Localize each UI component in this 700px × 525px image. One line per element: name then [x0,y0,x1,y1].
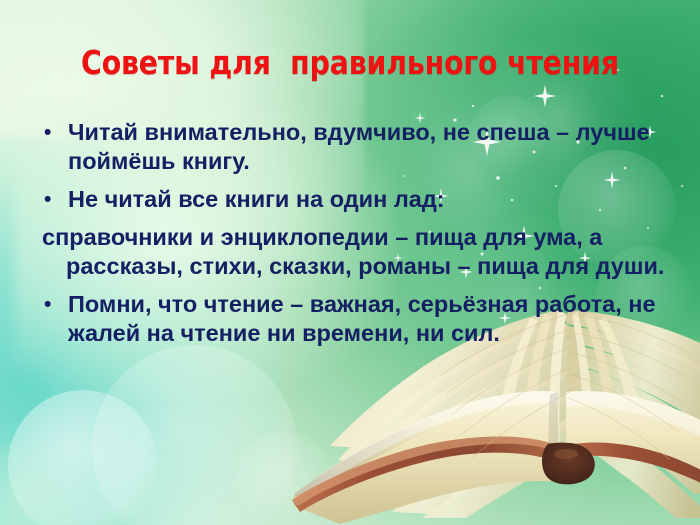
list-item: • Не читай все книги на один лад: [36,185,668,214]
page-title: Советы для правильного чтения [49,44,651,82]
bullet-list: • Читай внимательно, вдумчиво, не спеша … [36,118,668,357]
bullet-marker: • [36,290,68,319]
list-item-text: Не читай все книги на один лад: [68,185,668,214]
bullet-marker: • [36,185,68,214]
list-item-continuation: справочники и энциклопедии – пища для ум… [60,223,668,281]
list-item-text: Читай внимательно, вдумчиво, не спеша – … [68,118,668,176]
list-item: • Читай внимательно, вдумчиво, не спеша … [36,118,668,176]
bullet-marker: • [36,118,68,147]
list-item: • Помни, что чтение – важная, серьёзная … [36,290,668,348]
list-item-text: Помни, что чтение – важная, серьёзная ра… [68,290,668,348]
presentation-slide: Советы для правильного чтения • Читай вн… [0,0,700,525]
list-item-text: справочники и энциклопедии – пища для ум… [42,224,664,279]
